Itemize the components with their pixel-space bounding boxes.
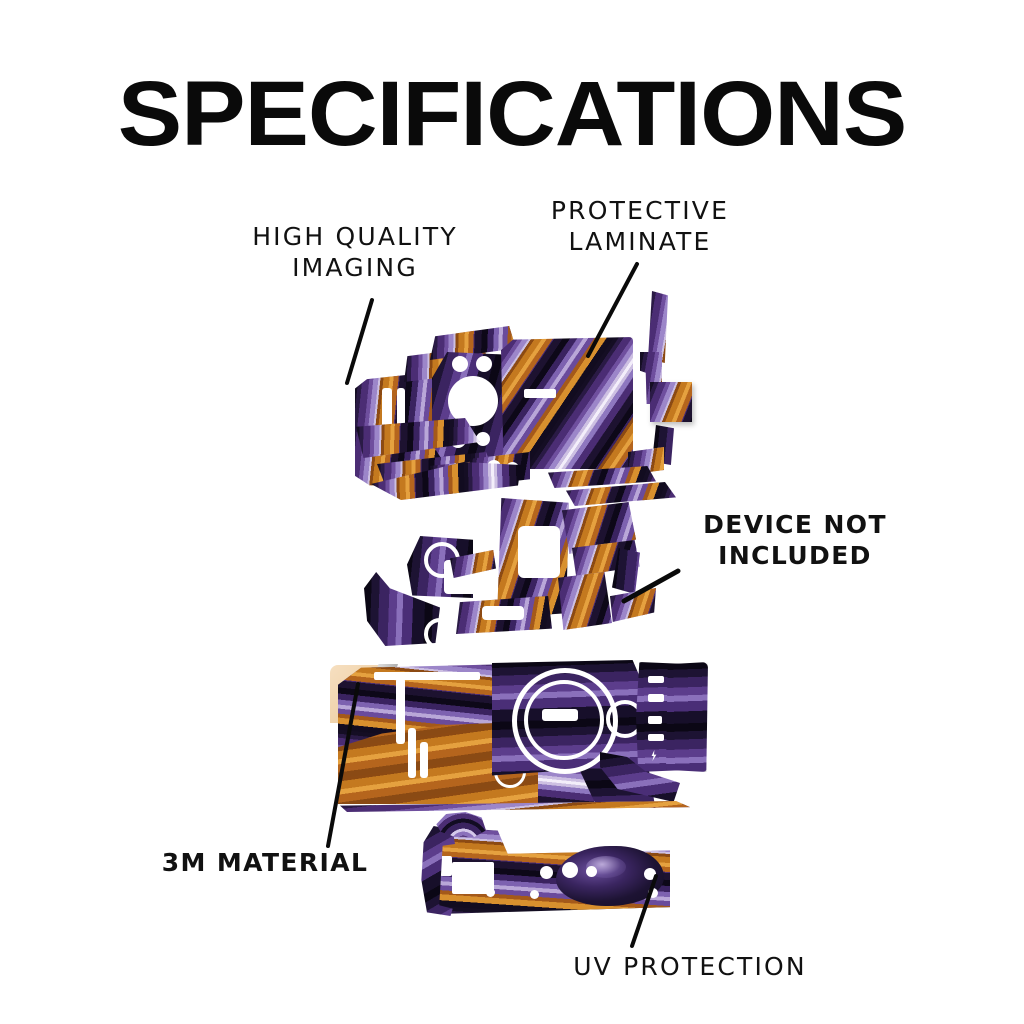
callout-device-not-included: DEVICE NOT INCLUDED — [655, 510, 935, 571]
specifications-page: SPECIFICATIONS — [0, 0, 1024, 1024]
callout-high-quality-imaging: HIGH QUALITY IMAGING — [205, 222, 505, 283]
skin-cutout-viewfinder-slot — [524, 389, 556, 398]
skin-cutout-front-prong-3 — [420, 742, 428, 778]
skin-piece-mid-right-block — [558, 572, 612, 630]
skin-cutout-btn-icon-4 — [648, 734, 664, 741]
skin-cutout-btn-icon-3 — [648, 716, 662, 724]
skin-cutout-front-prong-2 — [408, 728, 416, 778]
skin-cutout-btn-icon-1 — [648, 676, 664, 683]
skin-cutout-mid-square — [518, 526, 560, 578]
skin-piece-control-panel-right — [666, 662, 708, 772]
skin-cutout-lens-center-slot — [542, 709, 578, 721]
skin-cutout-base-dot-1 — [540, 866, 553, 879]
skin-cutout-base-dot-5 — [530, 890, 539, 899]
skin-piece-right-small-square — [650, 382, 692, 422]
skin-cutout-base-dot-7 — [648, 888, 658, 898]
skin-cutout-front-top-bar — [374, 672, 480, 680]
skin-cutout-base-dot-2 — [562, 862, 578, 878]
callout-protective-laminate: PROTECTIVE LAMINATE — [495, 196, 785, 257]
skin-cutout-lens-small-1 — [452, 356, 468, 372]
skin-cutout-btn-icon-2 — [648, 694, 664, 702]
skin-cutout-lens-main — [448, 376, 498, 426]
skin-cutout-base-dot-6 — [486, 888, 495, 897]
callout-uv-protection: UV PROTECTION — [540, 952, 840, 983]
skin-cutout-front-prong-1 — [396, 678, 405, 744]
skin-cutout-mid-bottom-slot — [482, 606, 524, 620]
skin-cutout-lens-small-2 — [476, 356, 492, 372]
callout-3m-material: 3M MATERIAL — [115, 848, 415, 879]
skin-cutout-base-dot-4 — [644, 868, 656, 880]
skin-cutout-base-dot-3 — [586, 866, 597, 877]
skin-piece-back-panel — [501, 337, 633, 469]
skin-piece-mid-right-fin — [610, 588, 656, 622]
